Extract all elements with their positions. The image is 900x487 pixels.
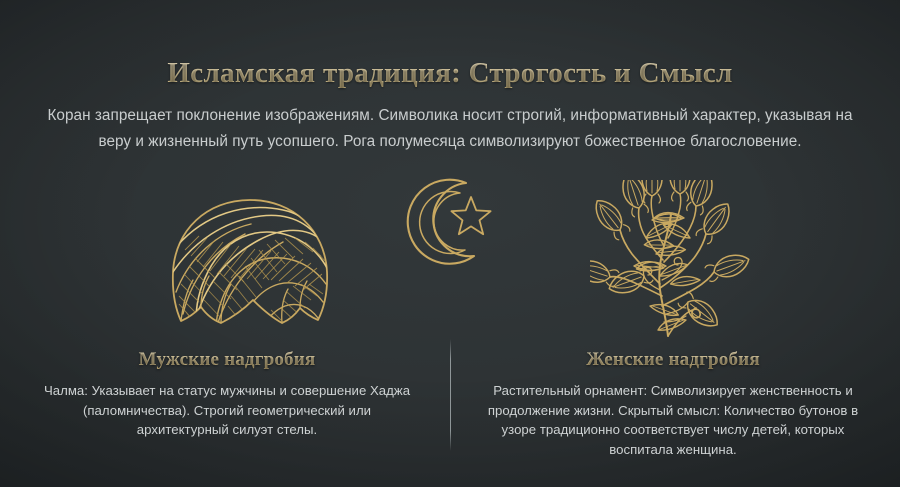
turban-icon	[155, 184, 345, 334]
column-female: Женские надгробия Растительный орнамент:…	[450, 348, 900, 459]
slide-subtitle: Коран запрещает поклонение изображениям.…	[35, 103, 865, 155]
turban-icon-slot	[110, 176, 390, 341]
crescent-star-icon-slot	[390, 176, 510, 341]
slide-root: Исламская традиция: Строгость и Смысл Ко…	[0, 0, 900, 487]
column-female-heading: Женские надгробия	[482, 348, 864, 372]
column-male-heading: Мужские надгробия	[36, 348, 418, 372]
page-title: Исламская традиция: Строгость и Смысл	[0, 55, 900, 91]
crescent-star-icon	[400, 176, 500, 276]
floral-branch-icon	[590, 180, 750, 338]
floral-branch-icon-slot	[530, 176, 810, 341]
column-female-body: Растительный орнамент: Символизирует жен…	[482, 381, 864, 459]
column-male: Мужские надгробия Чалма: Указывает на ст…	[0, 348, 450, 459]
columns: Мужские надгробия Чалма: Указывает на ст…	[0, 348, 900, 459]
icon-row	[0, 176, 900, 341]
column-male-body: Чалма: Указывает на статус мужчины и сов…	[36, 381, 418, 440]
